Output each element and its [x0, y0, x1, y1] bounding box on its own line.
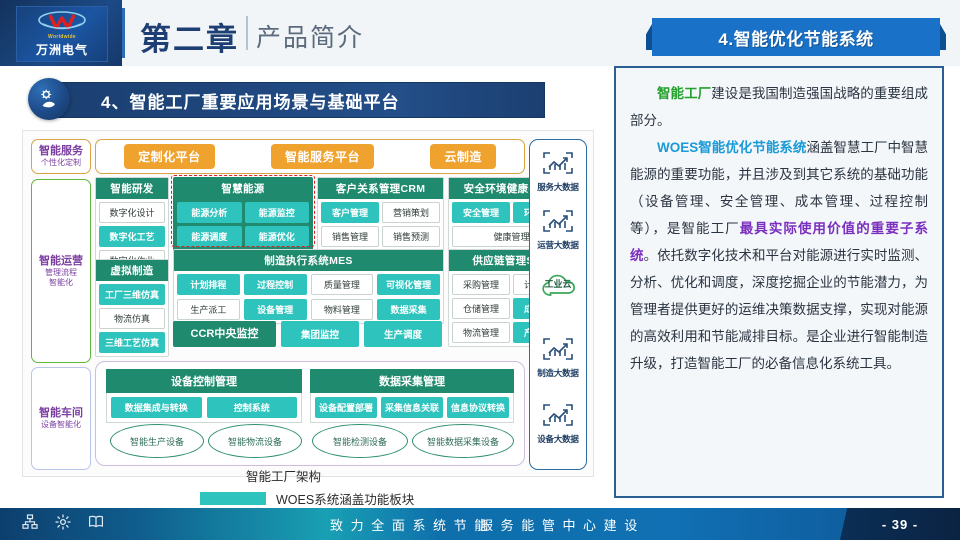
module-tile[interactable]: 物流仿真 — [99, 308, 165, 329]
section-title-bar: 4、智能工厂重要应用场景与基础平台 — [58, 82, 545, 118]
module-tile[interactable]: 物料管理 — [311, 299, 374, 320]
module-mes[interactable]: 制造执行系统MES 计划排程 过程控制 质量管理 可视化管理 生产派工 设备管理… — [173, 249, 444, 324]
module-tile[interactable]: 质量管理 — [311, 274, 374, 295]
gear-icon[interactable] — [55, 514, 71, 534]
module-tile[interactable]: 销售管理 — [321, 226, 379, 247]
ccr-tile[interactable]: 集团监控 — [281, 321, 359, 347]
module-tile[interactable]: 客户管理 — [321, 202, 379, 223]
highlight-woes: WOES智能优化节能系统 — [657, 140, 806, 155]
ellipse-label: 智能数据采集设备 — [427, 435, 499, 448]
module-header: 客户关系管理CRM — [318, 178, 443, 199]
right-panel-title: 4.智能优化节能系统 — [652, 18, 940, 56]
platform-button-strip: 定制化平台 智能服务平台 云制造 — [95, 139, 525, 174]
diagram-left-rail: 智能服务 个性化定制 智能运营 管理流程 智能化 智能车间 设备智能化 — [31, 139, 89, 468]
company-logo: Worldwide 万洲电气 — [16, 6, 108, 62]
block-data-collection[interactable]: 数据采集管理 设备配置部署 采集信息关联 信息协议转换 — [310, 369, 514, 423]
sitemap-icon[interactable] — [22, 514, 38, 534]
rail-label: 制造大数据 — [530, 367, 586, 379]
rail-label: 设备大数据 — [530, 433, 586, 445]
module-tile[interactable]: 数据采集 — [377, 299, 440, 320]
module-tile[interactable]: 工厂三维仿真 — [99, 284, 165, 305]
paragraph-1: 智能工厂建设是我国制造强国战略的重要组成部分。 — [630, 80, 928, 134]
rail-item-industrial-cloud[interactable]: 工业云 — [536, 270, 580, 296]
module-header: 制造执行系统MES — [174, 250, 443, 271]
block-tile[interactable]: 信息协议转换 — [447, 397, 509, 418]
rail-subtitle: 管理流程 智能化 — [45, 268, 77, 288]
paragraph-2: WOES智能优化节能系统涵盖智慧工厂中智慧能源的重要功能，并且涉及到其它系统的基… — [630, 134, 928, 377]
smart-factory-diagram: 智能服务 个性化定制 智能运营 管理流程 智能化 智能车间 设备智能化 定制化平… — [22, 130, 594, 477]
module-smart-energy[interactable]: 智慧能源 能源分析 能源监控 能源调度 能源优化 — [173, 177, 313, 251]
legend-swatch — [200, 492, 266, 505]
slide: Worldwide 万洲电气 第二章 产品简介 4、智能工厂重要应用场景与基础平… — [0, 0, 960, 540]
module-tile[interactable]: 销售预测 — [382, 226, 440, 247]
block-tile[interactable]: 数据集成与转换 — [111, 397, 202, 418]
bottom-equipment-zone: 设备控制管理 数据集成与转换 控制系统 智能生产设备 智能物流设备 数据采集管理 — [95, 361, 525, 466]
rail-label: 工业云 — [544, 277, 571, 290]
page-number: - 39 - — [882, 517, 918, 532]
worldwide-logo-icon — [36, 11, 88, 33]
module-tile[interactable]: 设备管理 — [244, 299, 307, 320]
rail-item-smart-operation[interactable]: 智能运营 管理流程 智能化 — [31, 179, 91, 363]
right-panel-body: 智能工厂建设是我国制造强国战略的重要组成部分。 WOES智能优化节能系统涵盖智慧… — [614, 66, 944, 498]
header-separator — [122, 8, 125, 58]
module-tile[interactable]: 计划排程 — [177, 274, 240, 295]
ccr-tile[interactable]: 生产调度 — [364, 321, 442, 347]
module-crm[interactable]: 客户关系管理CRM 客户管理 营销策划 销售管理 销售预测 — [317, 177, 444, 251]
block-tile[interactable]: 控制系统 — [207, 397, 298, 418]
header-divider — [246, 16, 248, 50]
right-panel-title-text: 4.智能优化节能系统 — [718, 25, 873, 50]
module-tile[interactable]: 数字化工艺 — [99, 226, 165, 247]
module-tile[interactable]: 采购管理 — [452, 274, 510, 295]
equipment-ellipse-production[interactable]: 智能生产设备 — [110, 424, 204, 458]
module-header: 智慧能源 — [174, 178, 312, 199]
ccr-row: CCR中央监控 集团监控 生产调度 — [173, 321, 442, 347]
chapter-subtitle: 产品简介 — [256, 18, 364, 54]
equipment-ellipse-inspection[interactable]: 智能检测设备 — [312, 424, 408, 458]
footer-slogan-left: 致 力 全 面 系 统 节 能 — [330, 515, 489, 534]
ellipse-label: 智能物流设备 — [228, 435, 282, 448]
diagram-right-rail: 服务大数据 运营大数据 工业云 — [529, 139, 587, 470]
block-tile[interactable]: 设备配置部署 — [315, 397, 377, 418]
platform-button-smart-service[interactable]: 智能服务平台 — [271, 144, 374, 169]
logo-subtitle: Worldwide — [48, 34, 76, 40]
highlight-smart-factory: 智能工厂 — [657, 86, 711, 101]
module-tile[interactable]: 物流管理 — [452, 322, 510, 343]
module-tile[interactable]: 过程控制 — [244, 274, 307, 295]
rail-subtitle: 设备智能化 — [41, 420, 81, 430]
module-virtual-mfg[interactable]: 虚拟制造 工厂三维仿真 物流仿真 三维工艺仿真 — [95, 259, 169, 357]
rail-title: 智能车间 — [39, 407, 83, 420]
footer-slogan-right: 服 务 能 管 中 心 建 设 — [480, 515, 639, 534]
bigdata-chart-icon — [541, 208, 575, 234]
module-tile[interactable]: 仓储管理 — [452, 298, 510, 319]
page-number-badge: - 39 - — [840, 508, 960, 540]
platform-button-cloud-mfg[interactable]: 云制造 — [430, 144, 496, 169]
rail-title: 智能运营 — [39, 255, 83, 268]
ellipse-label: 智能生产设备 — [130, 435, 184, 448]
ccr-header[interactable]: CCR中央监控 — [173, 321, 276, 347]
block-header: 数据采集管理 — [310, 369, 514, 393]
chapter-title: 第二章 — [140, 14, 239, 59]
rail-item-device-bigdata[interactable]: 设备大数据 — [530, 402, 586, 445]
block-tile[interactable]: 采集信息关联 — [381, 397, 443, 418]
ellipse-label: 智能检测设备 — [333, 435, 387, 448]
book-icon[interactable] — [88, 514, 104, 534]
diagram-caption: 智能工厂架构 — [246, 466, 321, 485]
module-tile[interactable]: 三维工艺仿真 — [99, 332, 165, 353]
module-header: 智能研发 — [96, 178, 168, 199]
module-tile[interactable]: 可视化管理 — [377, 274, 440, 295]
rail-item-smart-workshop[interactable]: 智能车间 设备智能化 — [31, 367, 91, 470]
equipment-ellipse-data-acq[interactable]: 智能数据采集设备 — [412, 424, 514, 458]
section-title-text: 4、智能工厂重要应用场景与基础平台 — [59, 88, 399, 113]
module-tile[interactable]: 能源分析 — [177, 202, 242, 223]
bigdata-chart-icon — [541, 402, 575, 428]
paragraph-2-b: 。依托数字化技术和平台对能源进行实时监测、分析、优化和调度，深度挖掘企业的节能潜… — [630, 248, 928, 371]
gear-hand-icon — [38, 88, 60, 110]
module-tile[interactable]: 能源优化 — [245, 226, 310, 247]
rail-item-service-bigdata[interactable]: 服务大数据 — [530, 150, 586, 193]
module-tile[interactable]: 安全管理 — [452, 202, 510, 223]
equipment-ellipse-logistics[interactable]: 智能物流设备 — [208, 424, 302, 458]
logo-company-name: 万洲电气 — [36, 41, 88, 58]
legend-label: WOES系统涵盖功能板块 — [276, 489, 414, 508]
bigdata-chart-icon — [541, 150, 575, 176]
section-icon-badge — [28, 78, 70, 120]
rail-item-manufacture-bigdata[interactable]: 制造大数据 — [530, 336, 586, 379]
block-device-control[interactable]: 设备控制管理 数据集成与转换 控制系统 — [106, 369, 302, 423]
rail-title: 智能服务 — [39, 145, 83, 158]
module-tile[interactable]: 能源监控 — [245, 202, 310, 223]
rail-item-smart-service[interactable]: 智能服务 个性化定制 — [31, 139, 91, 174]
rail-label: 服务大数据 — [530, 181, 586, 193]
platform-button-custom[interactable]: 定制化平台 — [124, 144, 215, 169]
module-header: 虚拟制造 — [96, 260, 168, 281]
module-tile[interactable]: 数字化设计 — [99, 202, 165, 223]
rail-item-operation-bigdata[interactable]: 运营大数据 — [530, 208, 586, 251]
rail-subtitle: 个性化定制 — [41, 158, 81, 168]
module-tile[interactable]: 生产派工 — [177, 299, 240, 320]
bigdata-chart-icon — [541, 336, 575, 362]
module-tile[interactable]: 能源调度 — [177, 226, 242, 247]
module-tile[interactable]: 营销策划 — [382, 202, 440, 223]
block-header: 设备控制管理 — [106, 369, 302, 393]
rail-label: 运营大数据 — [530, 239, 586, 251]
